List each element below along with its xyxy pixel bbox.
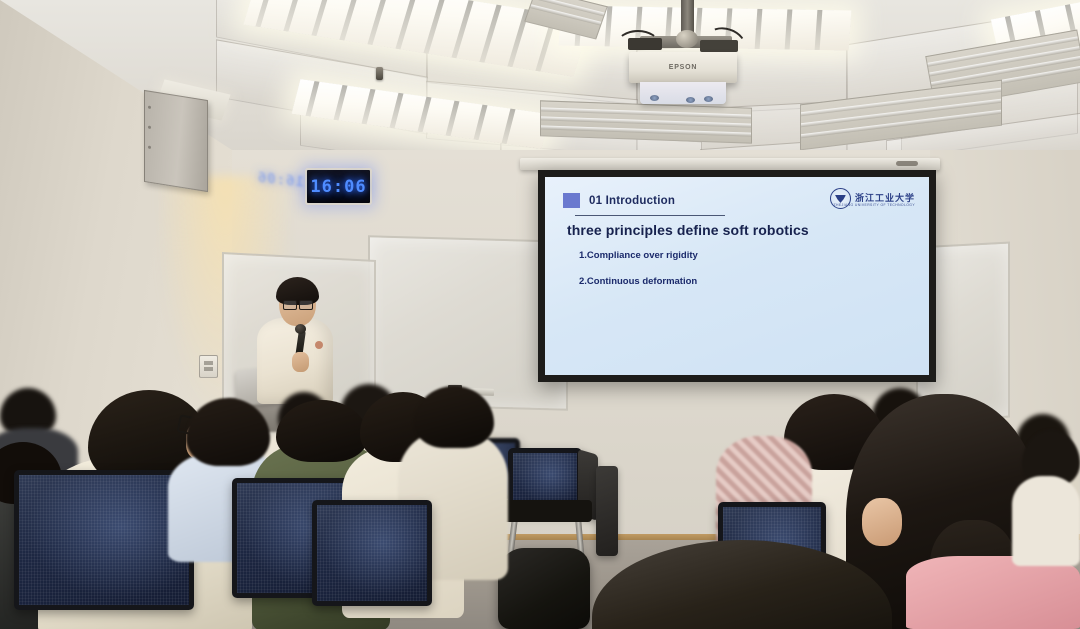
slide-bullet-1: 1.Compliance over rigidity xyxy=(579,250,911,261)
projector-lens-housing xyxy=(640,82,726,104)
audience-ear xyxy=(862,498,902,546)
audience-body xyxy=(1012,476,1080,566)
slide-accent-square xyxy=(563,193,580,208)
projector-mount-knob xyxy=(676,30,698,48)
audience-body xyxy=(906,556,1080,629)
chair-back[interactable] xyxy=(14,470,194,610)
backpack[interactable] xyxy=(498,548,590,629)
university-logo-text: 浙江工业大学 xyxy=(855,194,915,203)
clock-time: 16:06 xyxy=(310,177,366,197)
presenter-hand xyxy=(292,352,309,372)
projector: EPSON xyxy=(629,52,737,83)
projection-screen: 01 Introduction three principles define … xyxy=(538,170,936,382)
slide-section-title: 01 Introduction xyxy=(589,195,675,207)
presentation-slide: 01 Introduction three principles define … xyxy=(545,177,929,375)
projection-screen-housing xyxy=(520,158,940,170)
air-vent-grille xyxy=(540,100,752,143)
presenter-shirt-logo xyxy=(315,341,323,349)
slide-heading: three principles define soft robotics xyxy=(567,222,911,238)
wall-speaker xyxy=(144,90,208,192)
chair-tablet-arm[interactable] xyxy=(596,466,618,556)
classroom-photo: 16:06 16:06 EPSON 01 Introduction three … xyxy=(0,0,1080,629)
microphone-head xyxy=(295,324,306,334)
presenter-glasses xyxy=(283,300,312,308)
chair-seat xyxy=(500,500,592,522)
university-logo-subtext: ZHEJIANG UNIVERSITY OF TECHNOLOGY xyxy=(834,203,915,207)
slide-bullet-2: 2.Continuous deformation xyxy=(579,276,911,287)
wall-digital-clock: 16:06 xyxy=(305,168,372,205)
chair-back[interactable] xyxy=(312,500,432,606)
sprinkler-head xyxy=(376,67,383,80)
projector-cable-clamp xyxy=(628,38,662,50)
projector-brand-label: EPSON xyxy=(669,64,698,71)
projector-cable-clamp xyxy=(700,40,738,52)
slide-divider xyxy=(575,215,725,216)
power-outlet[interactable] xyxy=(199,355,218,378)
screen-roller-knob[interactable] xyxy=(896,161,918,166)
